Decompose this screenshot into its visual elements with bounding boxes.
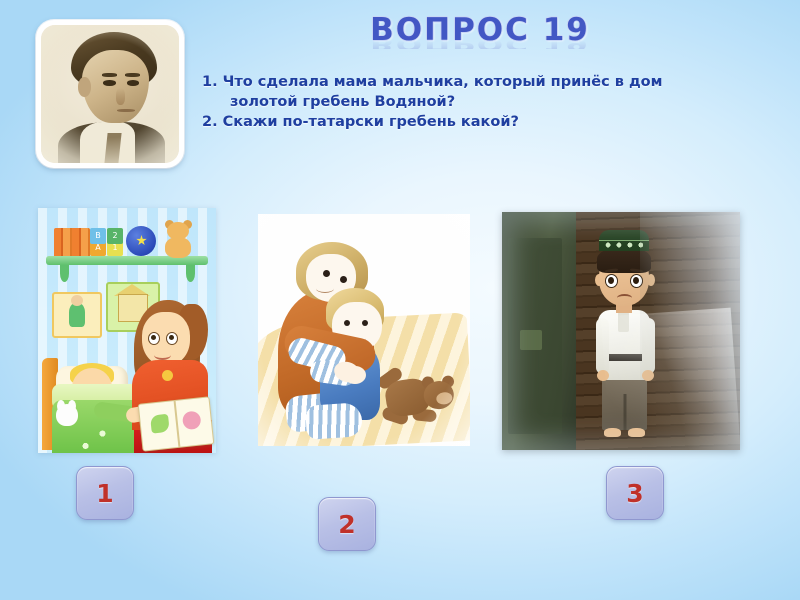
question-line-1: 1. Что сделала мама мальчика, который пр… [202, 72, 732, 92]
p1-bear-body [165, 237, 191, 258]
p1-mother-pendant [162, 370, 173, 381]
portrait-vignette [41, 25, 179, 163]
answer-badge-2-label: 2 [338, 512, 355, 537]
page-title: ВОПРОС 19 [200, 12, 760, 48]
answer-badge-3[interactable]: 3 [606, 466, 664, 520]
answer-image-3[interactable] [502, 212, 740, 450]
p1-picture-kid [69, 303, 85, 327]
p2-edge-fade [258, 214, 470, 446]
p3-edge-glow [502, 212, 740, 450]
page-title-reflection: ВОПРОС 19 [200, 39, 760, 49]
p1-open-book [138, 396, 215, 451]
portrait-photo [41, 25, 179, 163]
p1-books [54, 228, 90, 256]
question-block: 1. Что сделала мама мальчика, который пр… [202, 72, 732, 132]
answer-badge-1-label: 1 [96, 481, 113, 506]
p1-toy-block: 2 [107, 228, 123, 244]
p1-book-illustration-left [150, 414, 170, 434]
p1-mother-pupil-right [169, 335, 174, 340]
p1-plush-toy [56, 404, 78, 426]
p1-book-illustration-right [182, 410, 202, 430]
answer-badge-1[interactable]: 1 [76, 466, 134, 520]
question-line-2: золотой гребень Водяной? [202, 92, 732, 112]
p1-wall-picture-child [52, 292, 102, 338]
p1-teddy-bear [162, 222, 194, 257]
question-line-3: 2. Скажи по-татарски гребень какой? [202, 112, 732, 132]
p1-toy-block: B [90, 228, 106, 244]
answer-badge-2[interactable]: 2 [318, 497, 376, 551]
answer-badge-3-label: 3 [626, 481, 643, 506]
answer-image-2[interactable] [258, 214, 470, 446]
p1-shelf-bracket-left [60, 265, 69, 282]
answer-image-1[interactable]: A B 1 2 [38, 208, 216, 453]
p1-mother-pupil-left [151, 335, 156, 340]
p1-shelf-bracket-right [186, 265, 195, 282]
slide-canvas: ВОПРОС 19 ВОПРОС 19 1. Что сделала мама … [0, 0, 800, 600]
slide-title-block: ВОПРОС 19 ВОПРОС 19 [200, 12, 760, 74]
portrait-frame [36, 20, 184, 168]
p1-mother-smile [154, 350, 171, 360]
